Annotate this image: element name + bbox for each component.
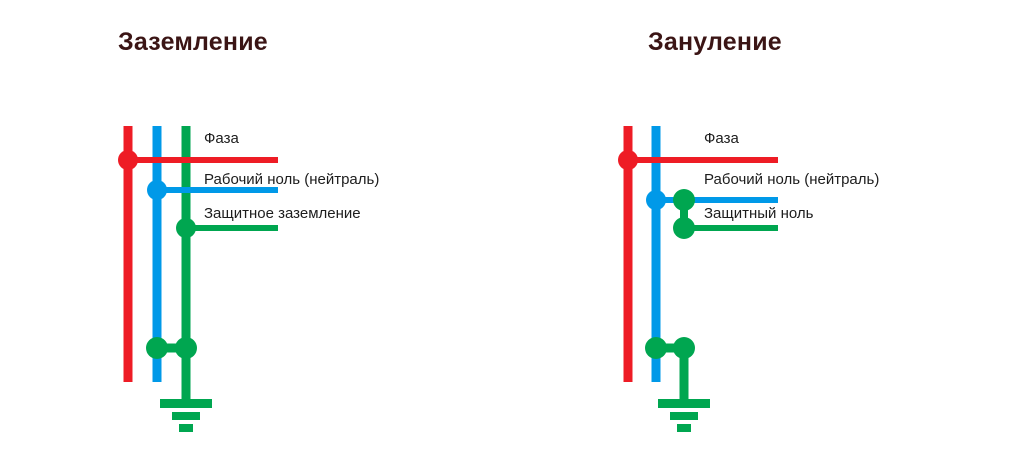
label-protective-neutral: Защитный ноль: [704, 206, 813, 221]
ground-symbol: [658, 399, 710, 432]
protective-neutral-tap-node: [673, 189, 695, 211]
label-phase: Фаза: [704, 131, 739, 146]
neutral-junction-node: [147, 180, 167, 200]
earth-junction-node: [176, 218, 196, 238]
ground-symbol: [160, 399, 212, 432]
neutral-bonding-schematic: [510, 0, 1020, 468]
phase-junction-node: [118, 150, 138, 170]
bonding-node-neutral: [645, 337, 667, 359]
grounding-schematic: [0, 0, 510, 468]
bonding-node-earth: [673, 337, 695, 359]
label-working-neutral: Рабочий ноль (нейтраль): [204, 172, 379, 187]
protective-neutral-branch-node: [673, 217, 695, 239]
label-protective-earth: Защитное заземление: [204, 206, 361, 221]
panel-grounding: Заземление: [0, 0, 510, 468]
label-working-neutral: Рабочий ноль (нейтраль): [704, 172, 879, 187]
phase-junction-node: [618, 150, 638, 170]
bonding-node-earth: [175, 337, 197, 359]
bonding-node-neutral: [146, 337, 168, 359]
diagram-canvas: Заземление: [0, 0, 1020, 468]
label-phase: Фаза: [204, 131, 239, 146]
neutral-junction-node: [646, 190, 666, 210]
panel-neutral-bonding: Зануление: [510, 0, 1020, 468]
